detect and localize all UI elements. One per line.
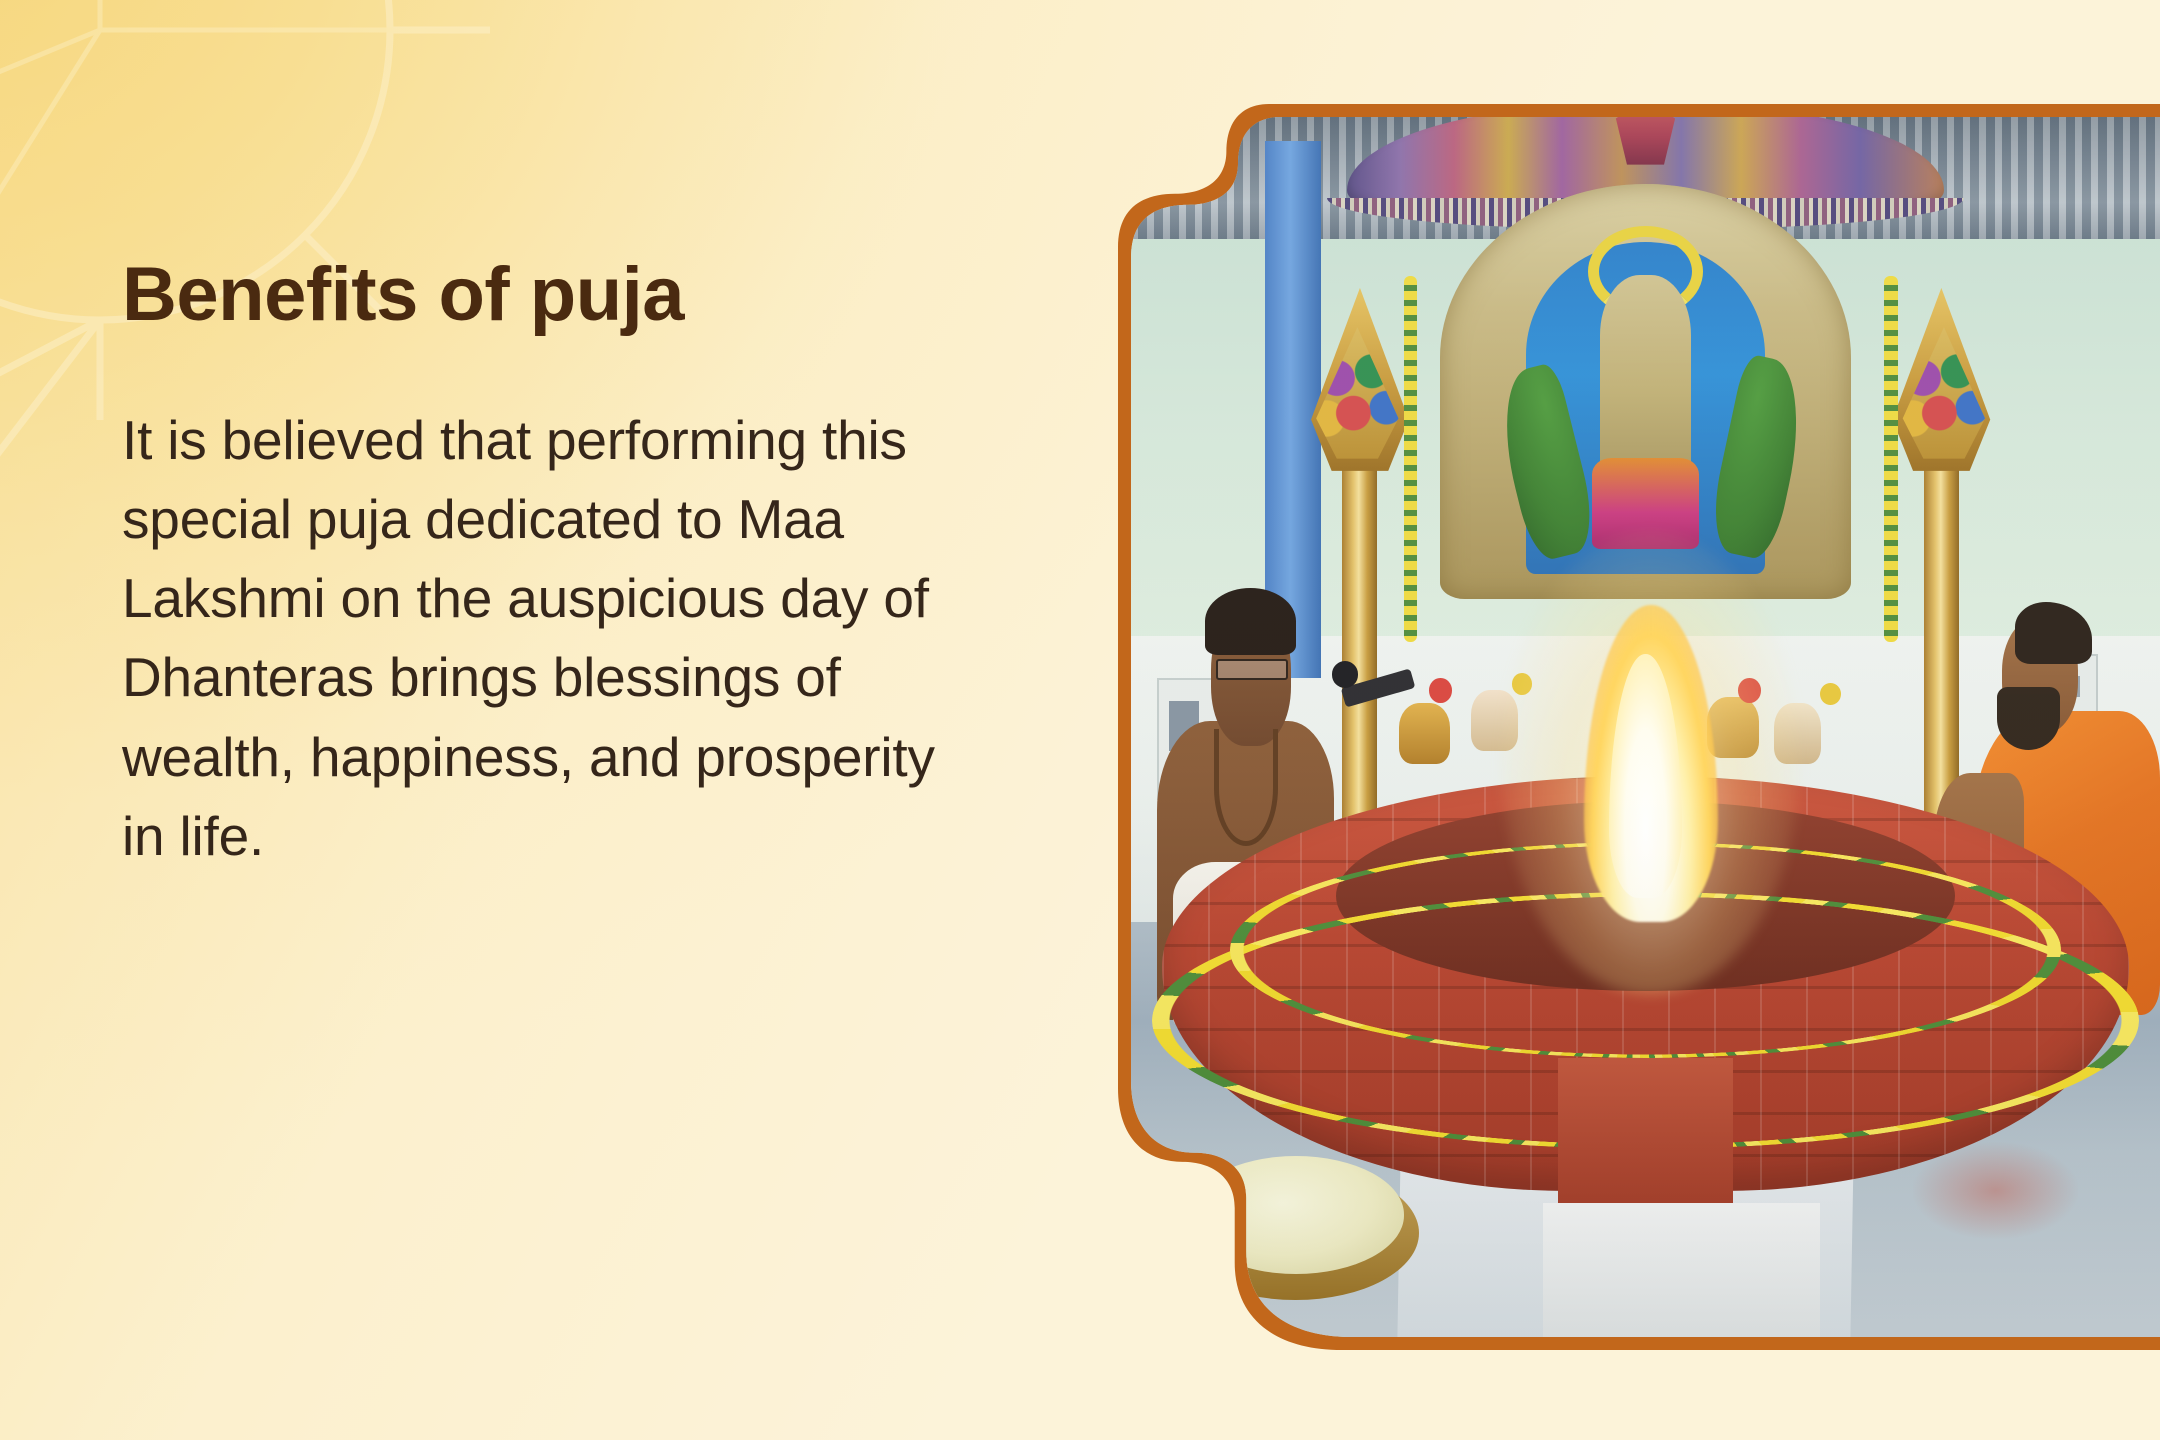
eyeglasses-icon [1216, 659, 1288, 680]
white-flowers [1188, 1156, 1404, 1273]
hanging-garland-right [1884, 276, 1897, 642]
photo-card [1118, 104, 2160, 1350]
floor-kolam-mark [1913, 1142, 2078, 1240]
swami-beard [1997, 687, 2060, 749]
page-title: Benefits of puja [122, 255, 1002, 335]
white-floor-mat [1543, 1203, 1821, 1337]
text-column: Benefits of puja It is believed that per… [122, 255, 1002, 876]
slide-canvas: Benefits of puja It is believed that per… [0, 0, 2160, 1440]
body-paragraph: It is believed that performing this spec… [122, 401, 982, 876]
hanging-garland-left [1404, 276, 1417, 642]
photo-clip [1131, 117, 2160, 1337]
puja-photograph [1131, 117, 2160, 1337]
offering-pot [1399, 703, 1450, 764]
red-flower [1429, 678, 1452, 702]
kund-front-brick [1558, 1058, 1732, 1224]
yellow-flower [1820, 683, 1841, 705]
priest-hair [1205, 588, 1296, 654]
microphone-icon [1332, 661, 1359, 688]
